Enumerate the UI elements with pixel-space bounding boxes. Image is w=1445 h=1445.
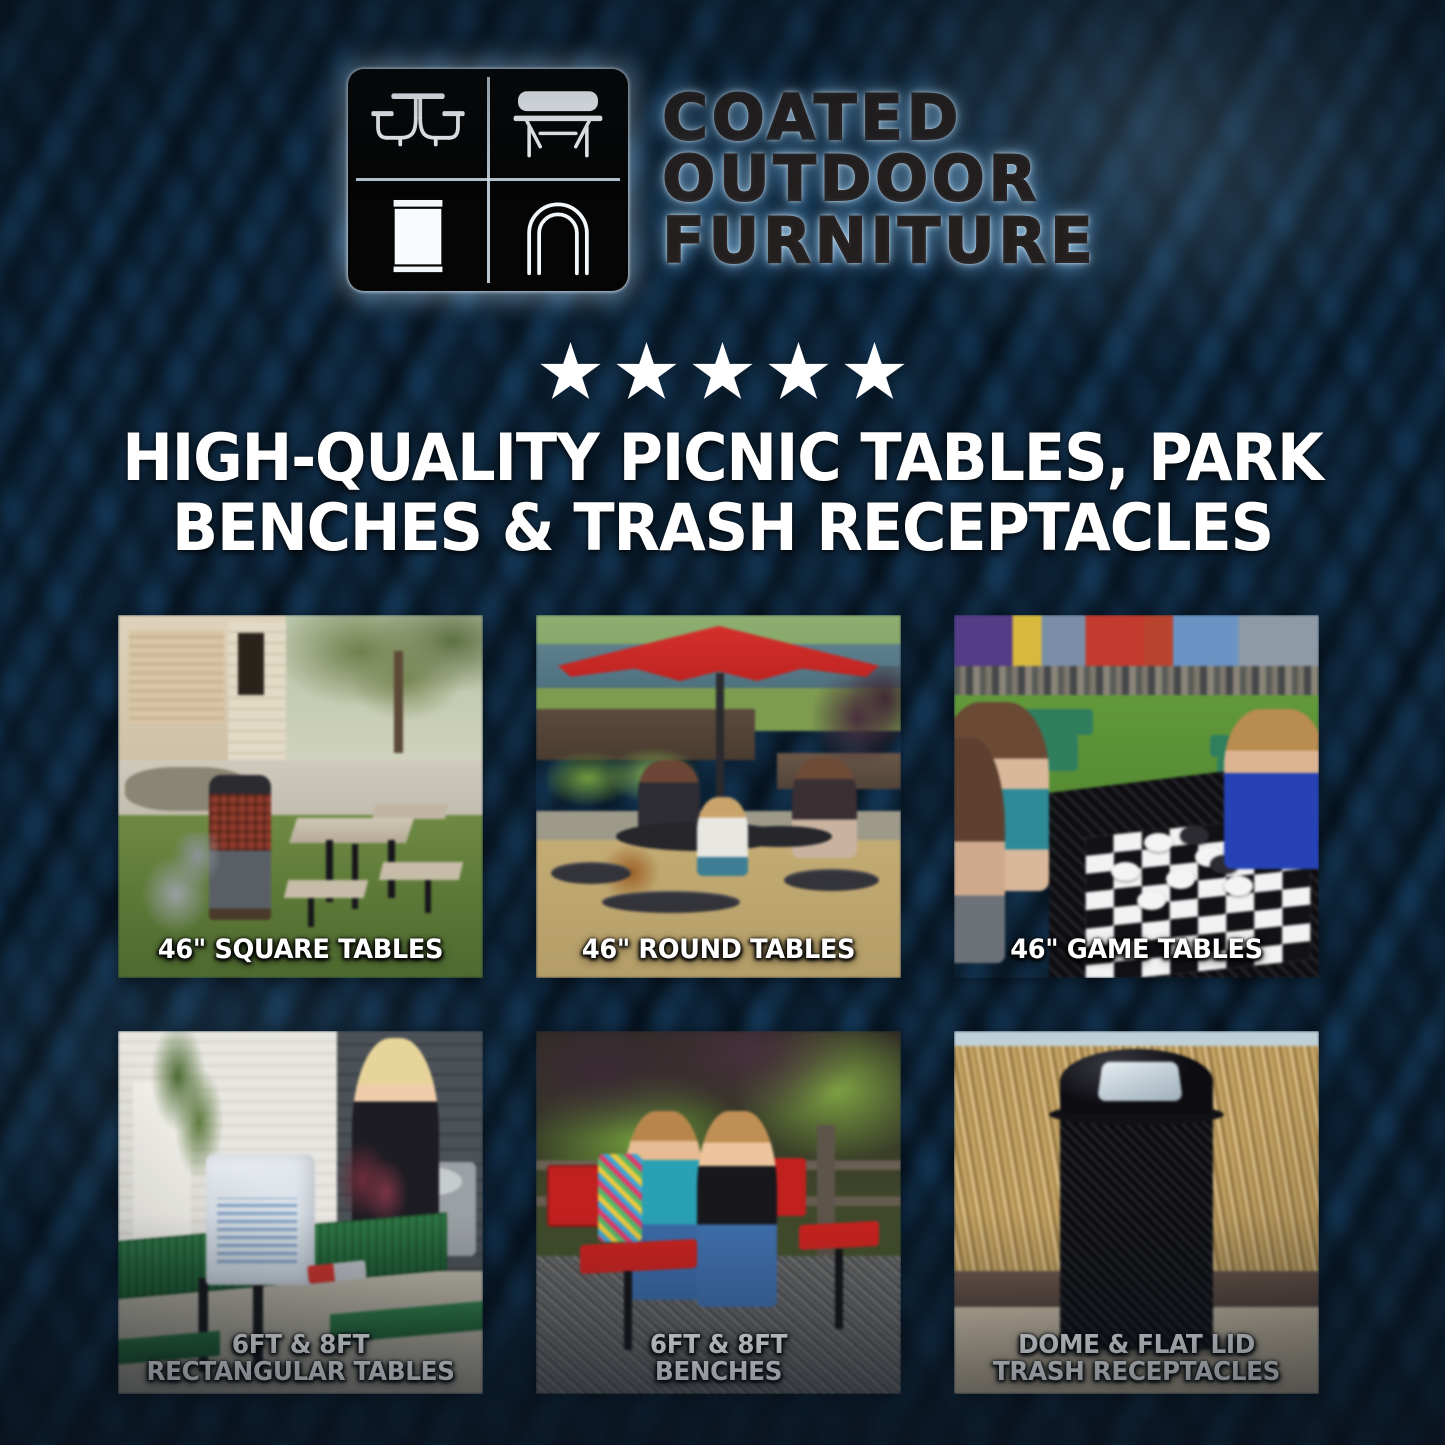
promo-poster: COATED OUTDOOR FURNITURE HIGH-QUALITY PI… bbox=[0, 0, 1445, 1445]
vignette-overlay bbox=[0, 0, 1445, 1445]
